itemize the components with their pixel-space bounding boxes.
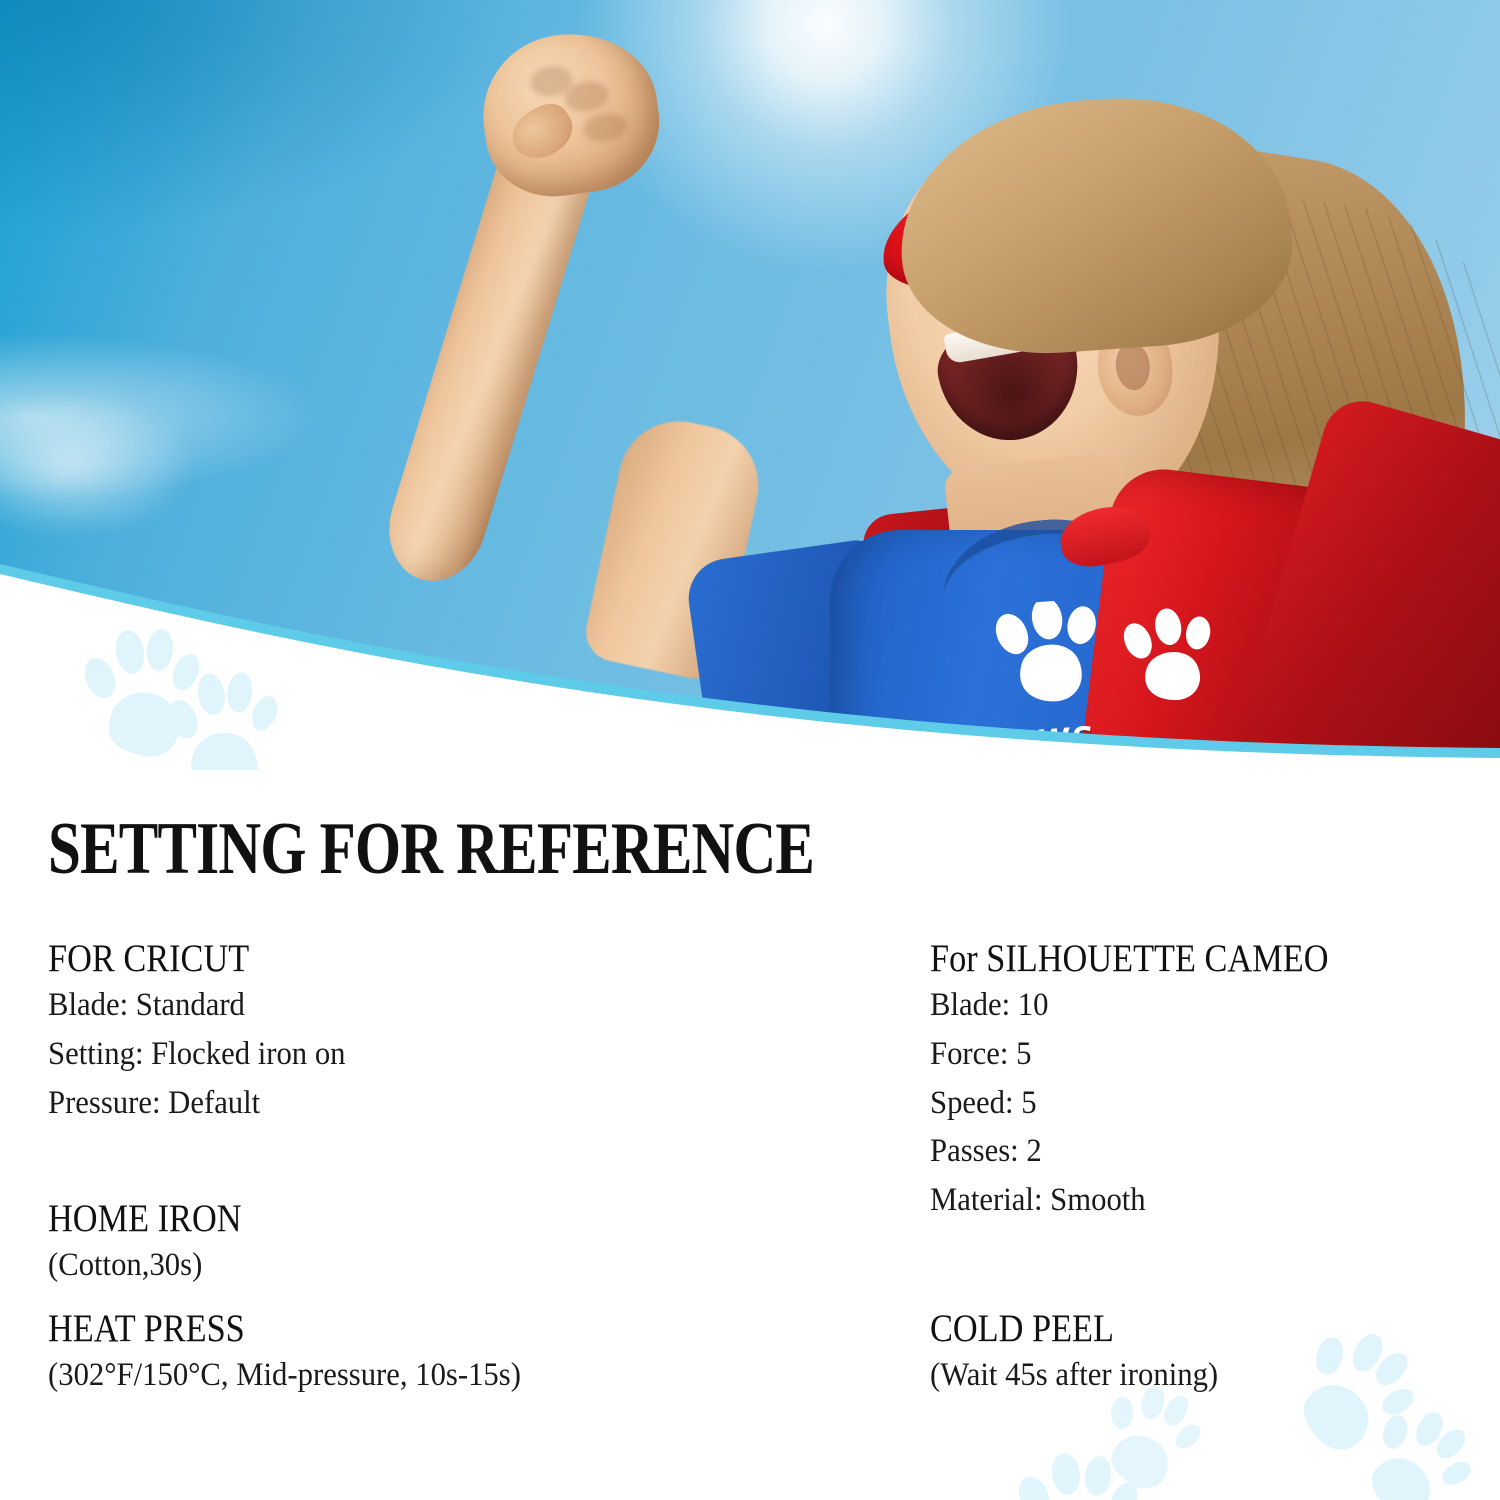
home-iron-detail: (Cotton,30s) [48, 1241, 253, 1290]
settings-section: SETTING FOR REFERENCE FOR CRICUT Blade: … [0, 790, 1500, 1500]
paw-watermark-icon [78, 620, 288, 770]
silhouette-line-force: Force: 5 [930, 1030, 1451, 1079]
page-title: SETTING FOR REFERENCE [48, 812, 814, 886]
cricut-line-pressure: Pressure: Default [48, 1079, 820, 1128]
cold-peel-block: COLD PEEL (Wait 45s after ironing) [930, 1308, 1240, 1400]
cloud [0, 390, 200, 540]
heat-press-heading: HEAT PRESS [48, 1308, 496, 1351]
silhouette-heading-prefix: For [930, 937, 986, 980]
sky-shadow [0, 0, 520, 230]
silhouette-line-passes: Passes: 2 [930, 1127, 1451, 1176]
silhouette-line-speed: Speed: 5 [930, 1079, 1451, 1128]
shirt-print-line1: PAWS [991, 721, 1097, 763]
silhouette-heading-main: SILHOUETTE CAMEO [986, 937, 1328, 980]
silhouette-line-material: Material: Smooth [930, 1176, 1451, 1225]
cold-peel-heading: COLD PEEL [930, 1308, 1203, 1351]
cricut-heading: FOR CRICUT [48, 938, 778, 981]
silhouette-heading: For SILHOUETTE CAMEO [930, 938, 1423, 981]
hair-front [892, 87, 1298, 364]
home-iron-block: HOME IRON (Cotton,30s) [48, 1198, 268, 1290]
cricut-line-blade: Blade: Standard [48, 981, 820, 1030]
paw-print-icon [972, 586, 1280, 727]
cricut-block: FOR CRICUT Blade: Standard Setting: Floc… [48, 938, 878, 1127]
shirt-print: PAWS ON BOARD [972, 590, 1287, 800]
child-figure: PAWS ON BOARD [760, 90, 1500, 800]
raised-arm [455, 22, 795, 582]
silhouette-line-blade: Blade: 10 [930, 981, 1451, 1030]
product-info-page: PAWS ON BOARD [0, 0, 1500, 1500]
silhouette-block: For SILHOUETTE CAMEO Blade: 10 Force: 5 … [930, 938, 1490, 1225]
home-iron-heading: HOME IRON [48, 1198, 242, 1241]
cricut-line-setting: Setting: Flocked iron on [48, 1030, 820, 1079]
heat-press-detail: (302°F/150°C, Mid-pressure, 10s-15s) [48, 1351, 521, 1400]
cold-peel-detail: (Wait 45s after ironing) [930, 1351, 1218, 1400]
heat-press-block: HEAT PRESS (302°F/150°C, Mid-pressure, 1… [48, 1308, 557, 1400]
